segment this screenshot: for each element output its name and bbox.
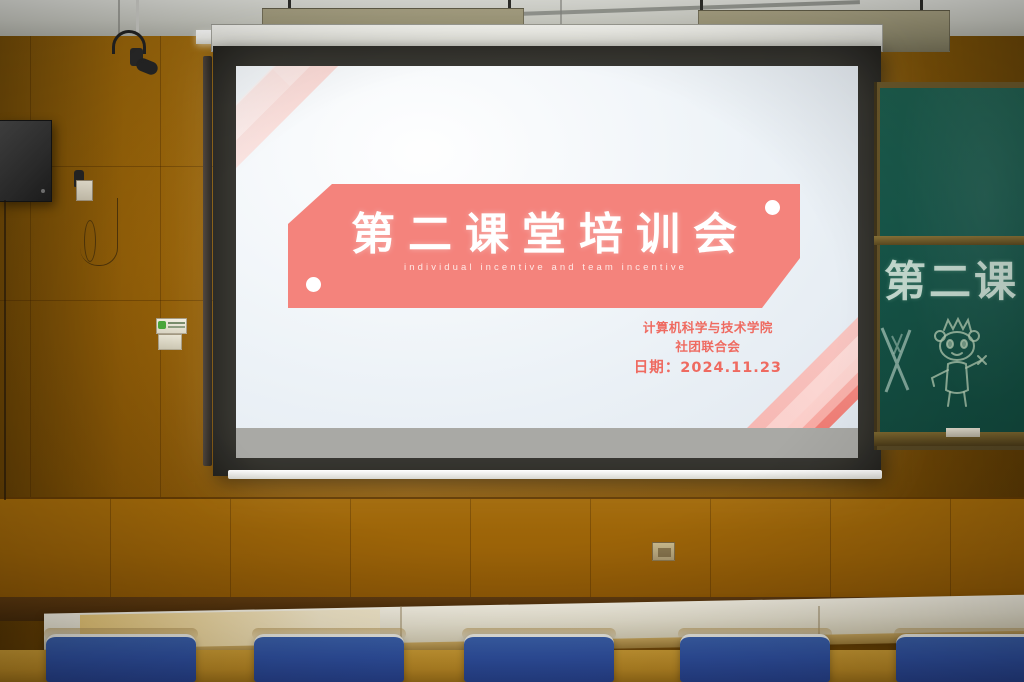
speaker-cable xyxy=(4,200,6,500)
wall-panel-seam xyxy=(350,499,351,597)
organization-line-2: 社团联合会 xyxy=(634,337,782,356)
banner-dot-icon xyxy=(765,200,780,215)
screen-weight-bar xyxy=(228,470,882,479)
wall-panel-seam xyxy=(590,499,591,597)
organization-line-1: 计算机科学与技术学院 xyxy=(634,318,782,337)
presentation-slide: 第二课堂培训会 individual incentive and team in… xyxy=(236,66,858,458)
chalk-scribble-icon xyxy=(878,322,918,396)
outlet-cable-loop xyxy=(84,220,96,262)
blackboard-divider-rail xyxy=(874,236,1024,245)
microphone-mount-pole xyxy=(136,0,139,34)
projector-screen-surface: 第二课堂培训会 individual incentive and team in… xyxy=(236,66,858,458)
speaker-led-icon xyxy=(41,189,45,193)
chair[interactable] xyxy=(680,634,830,682)
projection-bottom-band xyxy=(236,428,858,458)
blackboard-chalk-text: 第二课 xyxy=(884,248,1019,309)
wall-panel-seam xyxy=(110,499,111,597)
chair[interactable] xyxy=(464,634,614,682)
chair[interactable] xyxy=(254,634,404,682)
wall-socket xyxy=(652,542,675,561)
wall-panel-seam xyxy=(950,499,951,597)
panel-hanger-rod xyxy=(700,0,703,10)
sign-text-lines xyxy=(168,322,185,324)
panel-hanger-rod xyxy=(508,0,511,8)
wall-panel-seam xyxy=(230,499,231,597)
safety-sign-lower xyxy=(158,334,182,350)
ceiling-grid-line xyxy=(118,0,120,36)
wall-panel-seam xyxy=(710,499,711,597)
wall-speaker xyxy=(0,120,52,202)
blackboard-eraser xyxy=(946,428,980,437)
chair[interactable] xyxy=(46,634,196,682)
slide-date: 日期：2024.11.23 xyxy=(634,359,782,378)
slide-title: 第二课堂培训会 xyxy=(288,198,800,262)
screen-side-rail xyxy=(203,56,212,466)
wall-panel-seam xyxy=(830,499,831,597)
sign-green-badge-icon xyxy=(158,321,166,329)
wall-lower-panels xyxy=(0,497,1024,607)
slide-meta-block: 计算机科学与技术学院 社团联合会 日期：2024.11.23 xyxy=(634,318,782,378)
slide-title-banner: 第二课堂培训会 individual incentive and team in… xyxy=(288,184,800,308)
chalk-bear-drawing-icon xyxy=(926,316,990,408)
banner-dot-icon xyxy=(306,277,321,292)
classroom-scene: 第二课堂培训会 individual incentive and team in… xyxy=(0,0,1024,682)
safety-sign xyxy=(156,318,187,334)
slide-subtitle: individual incentive and team incentive xyxy=(288,262,800,273)
chair[interactable] xyxy=(896,634,1024,682)
wall-panel-seam xyxy=(470,499,471,597)
